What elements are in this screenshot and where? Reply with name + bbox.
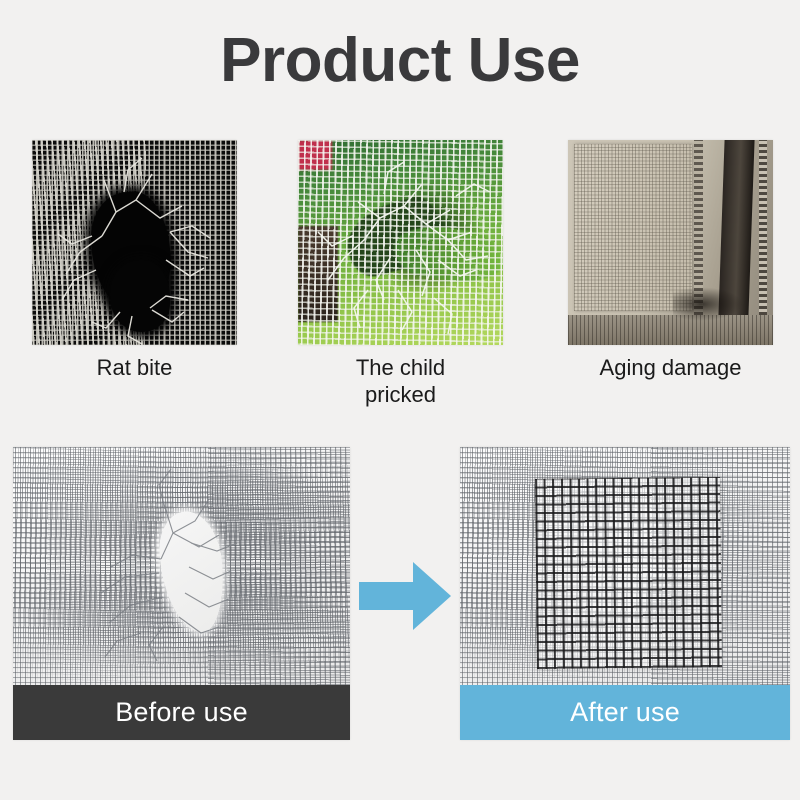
after-use-panel[interactable]: After use (460, 447, 790, 740)
page-title: Product Use (0, 28, 800, 93)
rat-bite-image (32, 140, 237, 345)
repair-patch (535, 477, 722, 669)
damage-example-caption: Rat bite (32, 355, 237, 382)
damage-example-rat-bite[interactable]: Rat bite (32, 140, 237, 382)
before-use-panel[interactable]: Before use (13, 447, 350, 740)
frayed-threads-overlay (32, 140, 237, 345)
before-use-image (13, 447, 350, 685)
frayed-threads-overlay (298, 140, 503, 345)
aging-damage-image (568, 140, 773, 345)
before-use-banner: Before use (13, 685, 350, 740)
damage-example-aging[interactable]: Aging damage (568, 140, 773, 382)
caption-line-2: pricked (298, 382, 503, 409)
damage-example-caption: Aging damage (568, 355, 773, 382)
dirt-smudge (673, 287, 743, 321)
damage-example-child-pricked[interactable]: The child pricked (298, 140, 503, 409)
arrow-container (357, 556, 453, 636)
after-use-image (460, 447, 790, 685)
after-use-label: After use (570, 697, 680, 728)
caption-line-1: The child (298, 355, 503, 382)
damage-examples-row: Rat bite (0, 140, 800, 405)
tear-frayed-threads (13, 447, 350, 685)
child-pricked-image (298, 140, 503, 345)
after-use-banner: After use (460, 685, 790, 740)
damage-example-caption: The child pricked (298, 355, 503, 409)
aged-screen-panel (574, 144, 692, 311)
before-use-label: Before use (115, 697, 248, 728)
right-arrow-icon (357, 556, 453, 636)
